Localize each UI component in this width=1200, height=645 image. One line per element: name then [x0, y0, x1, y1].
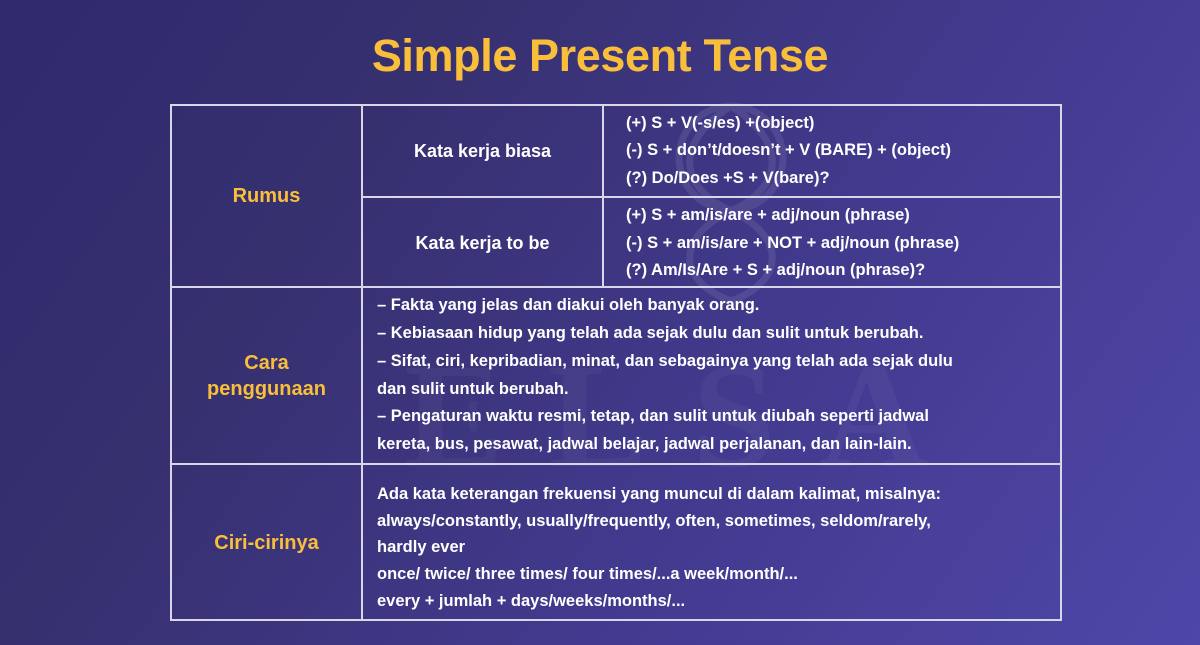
content-line: hardly ever — [377, 534, 1044, 561]
cara-penggunaan-content: – Fakta yang jelas dan diakui oleh banya… — [361, 288, 1060, 463]
rumus-body: Kata kerja biasa (+) S + V(-s/es) +(obje… — [361, 106, 1060, 286]
content-line: once/ twice/ three times/ four times/...… — [377, 561, 1044, 588]
row-label-cara-penggunaan: Cara penggunaan — [172, 288, 361, 463]
formula-line: (+) S + am/is/are + adj/noun (phrase) — [626, 202, 1060, 229]
content-line: kereta, bus, pesawat, jadwal belajar, ja… — [377, 431, 1044, 459]
subrow-kata-kerja-biasa: Kata kerja biasa (+) S + V(-s/es) +(obje… — [363, 106, 1060, 196]
content-line: every + jumlah + days/weeks/months/... — [377, 588, 1044, 615]
content-line: always/constantly, usually/frequently, o… — [377, 508, 1044, 535]
table-row-rumus: Rumus Kata kerja biasa (+) S + V(-s/es) … — [172, 106, 1060, 286]
subrow-kata-kerja-to-be: Kata kerja to be (+) S + am/is/are + adj… — [363, 196, 1060, 288]
row-label-ciri-cirinya: Ciri-cirinya — [172, 465, 361, 621]
formula-line: (?) Am/Is/Are + S + adj/noun (phrase)? — [626, 257, 1060, 284]
formula-list-kata-kerja-biasa: (+) S + V(-s/es) +(object) (-) S + don’t… — [602, 106, 1060, 196]
row-label-line-2: penggunaan — [207, 378, 326, 400]
formula-list-kata-kerja-to-be: (+) S + am/is/are + adj/noun (phrase) (-… — [602, 198, 1060, 288]
content-line: – Pengaturan waktu resmi, tetap, dan sul… — [377, 403, 1044, 431]
content-line: dan sulit untuk berubah. — [377, 376, 1044, 404]
content-line: – Sifat, ciri, kepribadian, minat, dan s… — [377, 348, 1044, 376]
table-row-cara-penggunaan: Cara penggunaan – Fakta yang jelas dan d… — [172, 286, 1060, 463]
table-row-ciri-cirinya: Ciri-cirinya Ada kata keterangan frekuen… — [172, 463, 1060, 621]
ciri-cirinya-content: Ada kata keterangan frekuensi yang muncu… — [361, 465, 1060, 621]
row-label-rumus: Rumus — [172, 106, 361, 286]
formula-line: (+) S + V(-s/es) +(object) — [626, 110, 1060, 137]
formula-line: (-) S + am/is/are + NOT + adj/noun (phra… — [626, 230, 1060, 257]
page-title: Simple Present Tense — [0, 33, 1200, 78]
tense-table: Rumus Kata kerja biasa (+) S + V(-s/es) … — [170, 104, 1062, 621]
row-label-line-1: Cara — [244, 352, 288, 374]
formula-line: (?) Do/Does +S + V(bare)? — [626, 165, 1060, 192]
subrow-label-kata-kerja-to-be: Kata kerja to be — [363, 198, 602, 288]
content-line: Ada kata keterangan frekuensi yang muncu… — [377, 481, 1044, 508]
formula-line: (-) S + don’t/doesn’t + V (BARE) + (obje… — [626, 137, 1060, 164]
content-line: – Kebiasaan hidup yang telah ada sejak d… — [377, 320, 1044, 348]
subrow-label-kata-kerja-biasa: Kata kerja biasa — [363, 106, 602, 196]
content-line: – Fakta yang jelas dan diakui oleh banya… — [377, 292, 1044, 320]
